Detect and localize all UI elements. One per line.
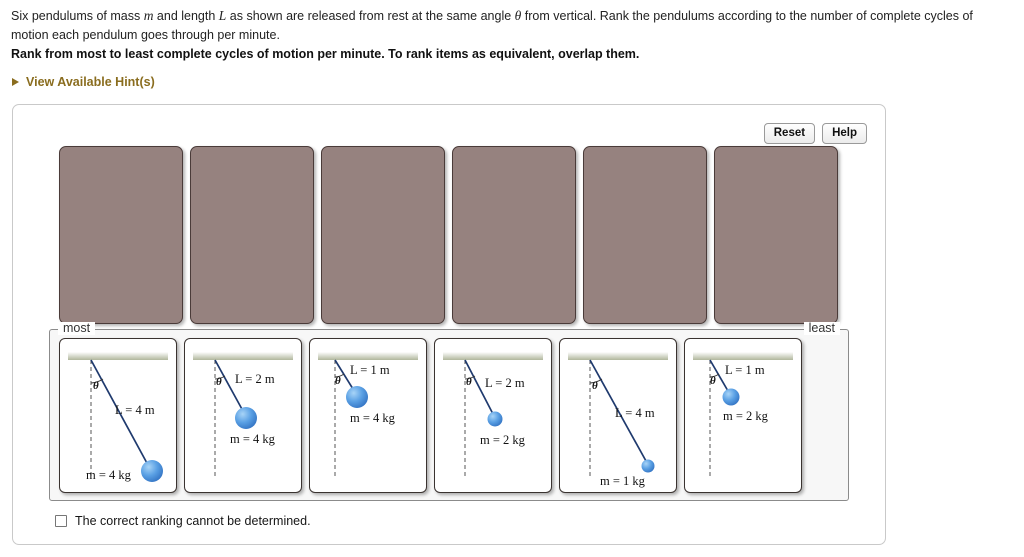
dropzone-slot-1[interactable] <box>59 146 183 324</box>
ranking-instruction: Rank from most to least complete cycles … <box>11 47 1011 61</box>
help-button[interactable]: Help <box>822 123 867 144</box>
bin-label-most: most <box>58 322 95 335</box>
ceiling-bar <box>193 352 293 360</box>
pendulum-bob <box>723 389 740 406</box>
variable-m: m <box>144 8 154 23</box>
angle-label-5: θ <box>592 380 598 392</box>
length-label-6: L = 1 m <box>725 363 765 377</box>
angle-label-1: θ <box>93 380 99 392</box>
mass-label-5: m = 1 kg <box>600 474 646 488</box>
pendulum-card-6[interactable]: θ L = 1 m m = 2 kg <box>684 338 802 493</box>
reset-button[interactable]: Reset <box>764 123 815 144</box>
angle-label-6: θ <box>710 375 716 387</box>
ceiling-bar <box>318 352 418 360</box>
angle-label-2: θ <box>216 376 222 388</box>
mass-label-6: m = 2 kg <box>723 409 769 423</box>
ceiling-bar <box>68 352 168 360</box>
pendulum-card-5[interactable]: θ L = 4 m m = 1 kg <box>559 338 677 493</box>
answer-panel: Reset Help most least <box>12 104 886 545</box>
length-label-2: L = 2 m <box>235 372 275 386</box>
dropzone-slot-3[interactable] <box>321 146 445 324</box>
cannot-determine-checkbox[interactable] <box>55 515 67 527</box>
pendulum-card-1[interactable]: θ L = 4 m m = 4 kg <box>59 338 177 493</box>
statement-text-1: Six pendulums of mass <box>11 9 144 23</box>
length-label-1: L = 4 m <box>115 403 155 417</box>
dropzone-slot-6[interactable] <box>714 146 838 324</box>
triangle-right-icon <box>12 78 19 86</box>
length-label-5: L = 4 m <box>615 406 655 420</box>
statement-text-2: and length <box>153 9 218 23</box>
dropzone-slot-4[interactable] <box>452 146 576 324</box>
cannot-determine-label: The correct ranking cannot be determined… <box>75 514 311 528</box>
length-label-3: L = 1 m <box>350 363 390 377</box>
mass-label-3: m = 4 kg <box>350 411 396 425</box>
pendulum-card-2[interactable]: θ L = 2 m m = 4 kg <box>184 338 302 493</box>
cannot-determine-row: The correct ranking cannot be determined… <box>55 514 311 528</box>
pendulum-bob <box>642 460 655 473</box>
view-hints-label: View Available Hint(s) <box>26 75 155 89</box>
dropzone-slot-2[interactable] <box>190 146 314 324</box>
length-label-4: L = 2 m <box>485 376 525 390</box>
pendulum-bob <box>235 407 257 429</box>
mass-label-1: m = 4 kg <box>86 468 132 482</box>
bin-label-least: least <box>804 322 840 335</box>
angle-label-4: θ <box>466 376 472 388</box>
pendulum-card-row: θ L = 4 m m = 4 kg <box>59 338 802 493</box>
mass-label-4: m = 2 kg <box>480 433 526 447</box>
angle-label-3: θ <box>335 375 341 387</box>
ceiling-bar <box>443 352 543 360</box>
dropzone-slot-5[interactable] <box>583 146 707 324</box>
pendulum-card-4[interactable]: θ L = 2 m m = 2 kg <box>434 338 552 493</box>
statement-text-3: as shown are released from rest at the s… <box>226 9 514 23</box>
dropzone-row <box>59 146 838 324</box>
pendulum-bob <box>346 386 368 408</box>
ceiling-bar <box>568 352 668 360</box>
ceiling-bar <box>693 352 793 360</box>
panel-toolbar: Reset Help <box>764 123 867 144</box>
view-hints-link[interactable]: View Available Hint(s) <box>12 75 155 89</box>
pendulum-bob <box>141 460 163 482</box>
mass-label-2: m = 4 kg <box>230 432 276 446</box>
pendulum-card-3[interactable]: θ L = 1 m m = 4 kg <box>309 338 427 493</box>
pendulum-bob <box>488 412 503 427</box>
ranking-bin: most least <box>49 329 849 501</box>
problem-statement: Six pendulums of mass m and length L as … <box>11 6 1011 44</box>
